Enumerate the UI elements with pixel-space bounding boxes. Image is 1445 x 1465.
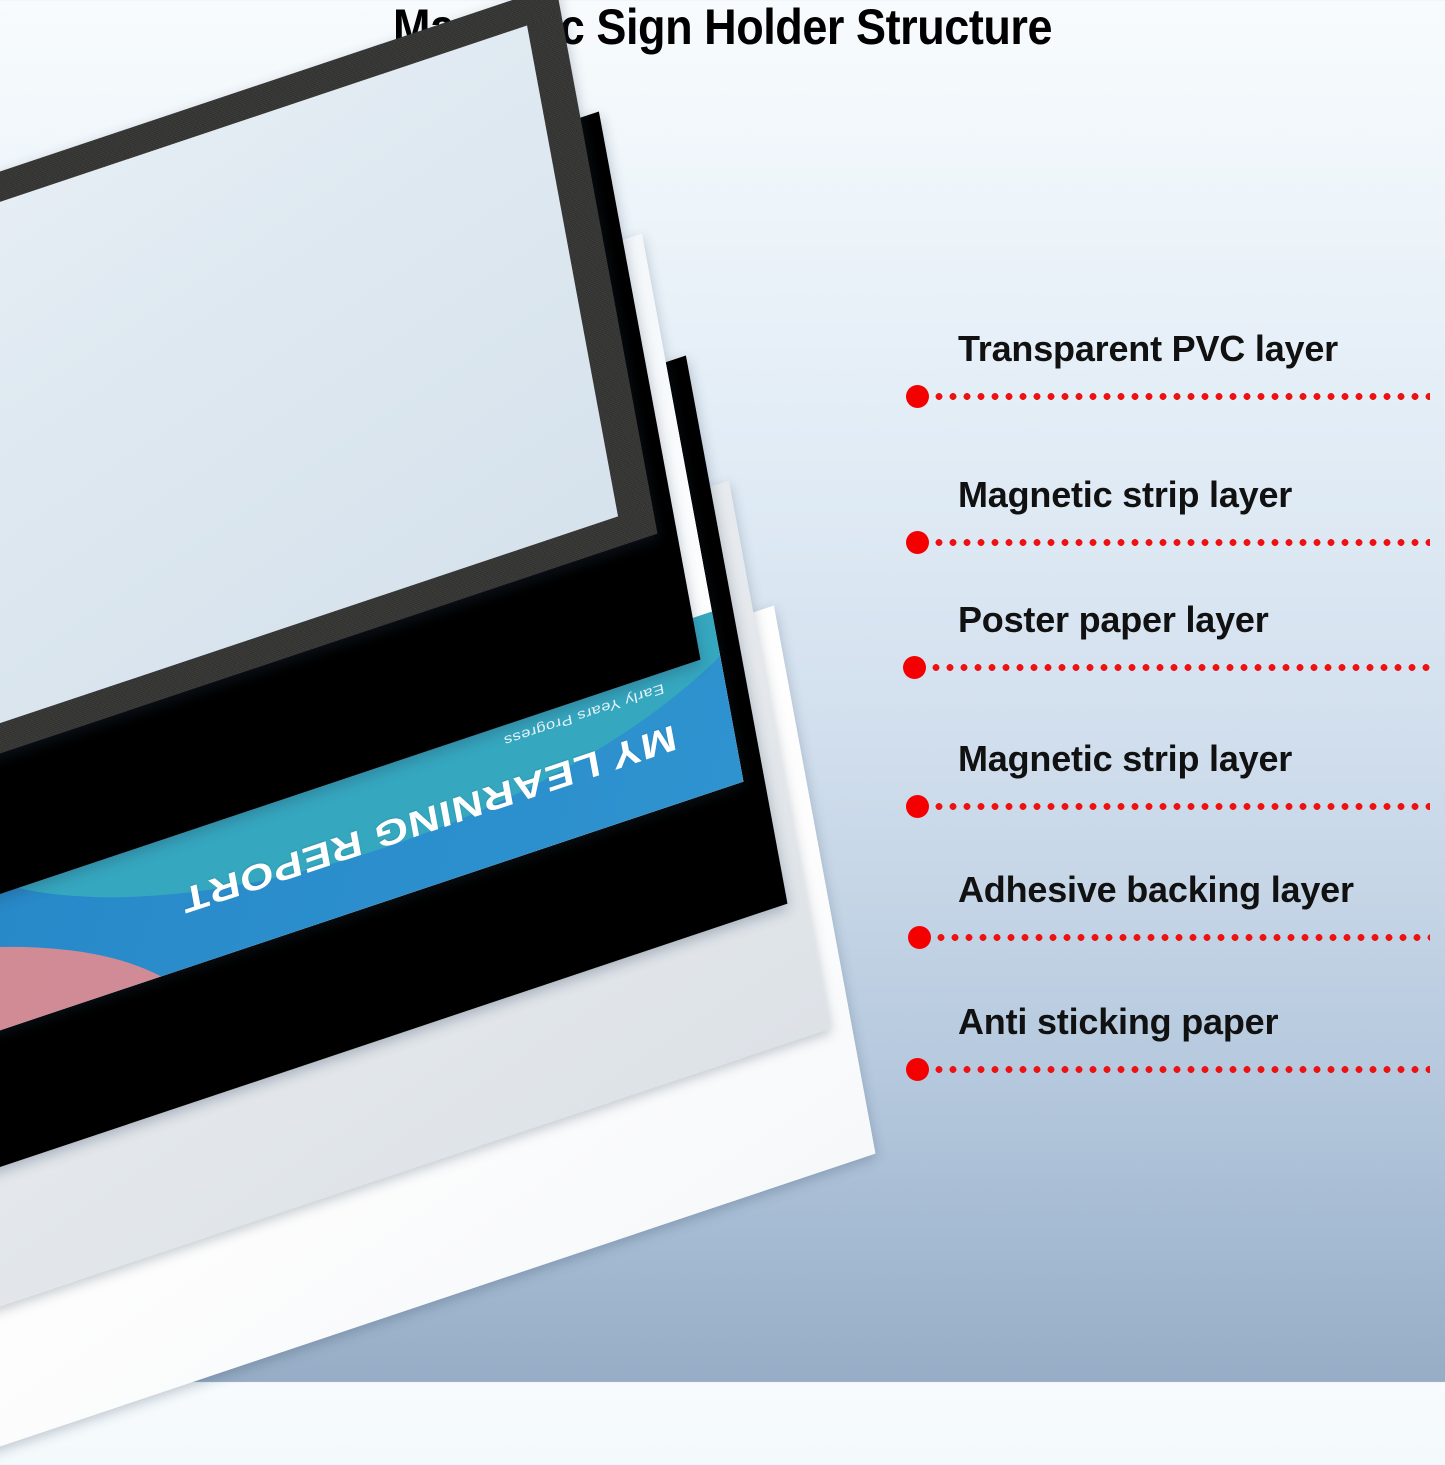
marker-poster-paper[interactable]: [903, 656, 926, 679]
exploded-layer-stack: MY LEARNING REPORT Early Years Progress …: [0, 0, 1000, 1382]
leader-line-anti-sticking-paper: [932, 1066, 1430, 1073]
label-anti-sticking-paper: Anti sticking paper: [958, 1001, 1278, 1043]
label-poster-paper: Poster paper layer: [958, 599, 1269, 641]
leader-line-magnetic-strip-bottom: [932, 803, 1430, 810]
marker-anti-sticking-paper[interactable]: [906, 1058, 929, 1081]
label-adhesive-backing: Adhesive backing layer: [958, 869, 1354, 911]
leader-line-transparent-pvc: [932, 393, 1430, 400]
leader-line-adhesive-backing: [934, 934, 1430, 941]
label-transparent-pvc: Transparent PVC layer: [958, 328, 1338, 370]
leader-line-poster-paper: [929, 664, 1430, 671]
marker-adhesive-backing[interactable]: [908, 926, 931, 949]
marker-magnetic-strip-top[interactable]: [906, 531, 929, 554]
leader-line-magnetic-strip-top: [932, 539, 1430, 546]
marker-magnetic-strip-bottom[interactable]: [906, 795, 929, 818]
label-magnetic-strip-bottom: Magnetic strip layer: [958, 738, 1292, 780]
label-magnetic-strip-top: Magnetic strip layer: [958, 474, 1292, 516]
marker-transparent-pvc[interactable]: [906, 385, 929, 408]
